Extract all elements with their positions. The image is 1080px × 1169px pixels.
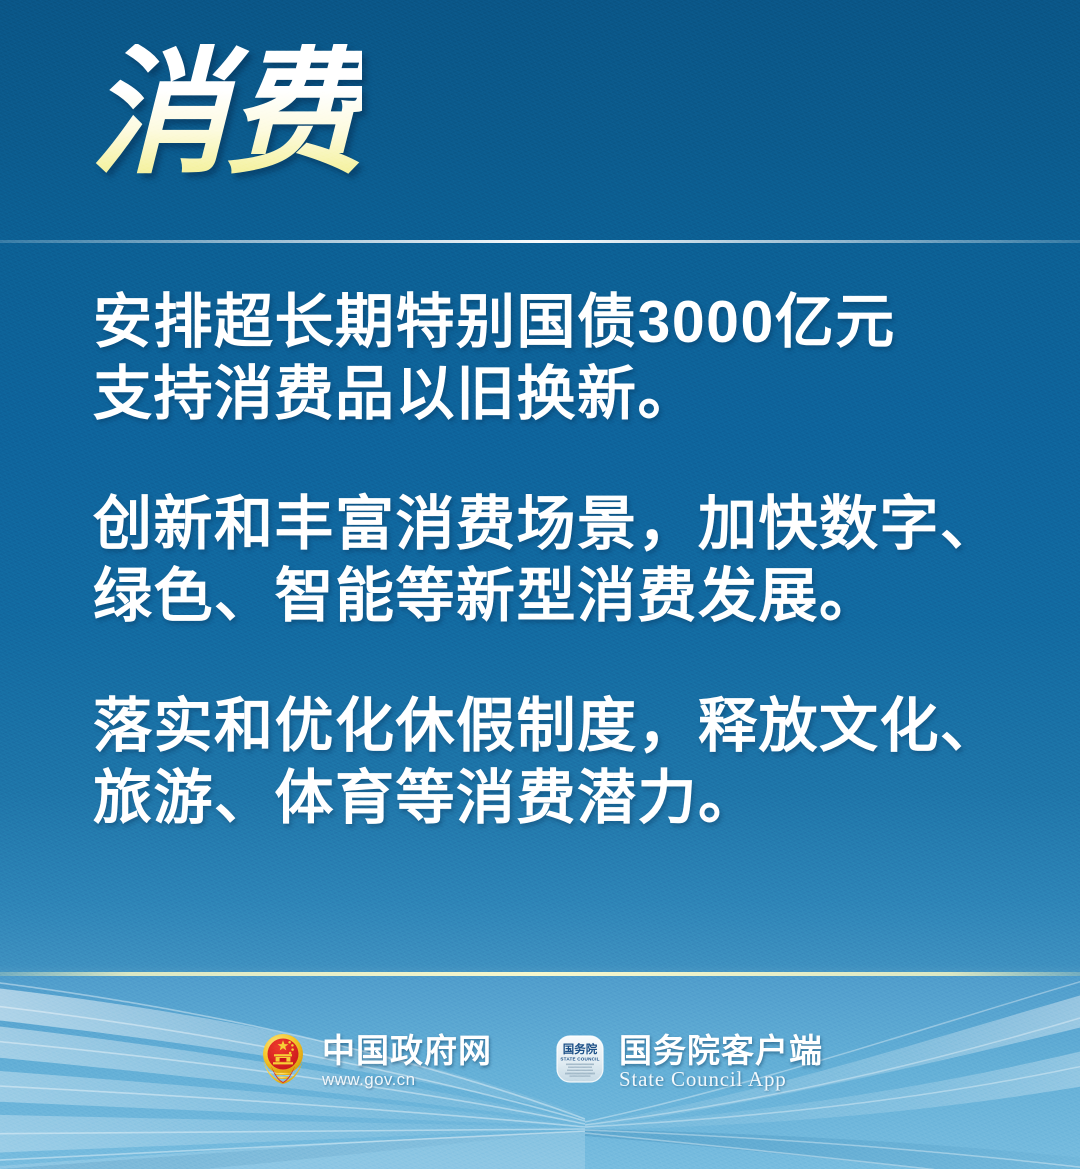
logo-label-en: State Council App [619,1069,823,1090]
logo-china-government-website-text: 中国政府网 www.gov.cn [322,1033,492,1090]
logo-state-council-app[interactable]: 国务院 STATE COUNCIL 国务院客户端 State Council A… [554,1032,823,1091]
logo-state-council-app-text: 国务院客户端 State Council App [619,1033,823,1090]
body-paragraph-3: 落实和优化休假制度，释放文化、 旅游、体育等消费潜力。 [93,690,1023,834]
svg-text:STATE COUNCIL: STATE COUNCIL [560,1057,599,1062]
poster-card: 消费 安排超长期特别国债3000亿元 支持消费品以旧换新。 创新和丰富消费场景，… [0,0,1080,1169]
footer-logo-row: 中国政府网 www.gov.cn 国务院 STATE CO [0,1032,1080,1091]
header-divider [0,240,1080,243]
china-national-emblem-icon [257,1032,309,1091]
logo-china-government-website[interactable]: 中国政府网 www.gov.cn [257,1032,492,1091]
body-paragraph-1: 安排超长期特别国债3000亿元 支持消费品以旧换新。 [93,286,1023,430]
page-title: 消费 [90,44,362,182]
logo-label-cn: 国务院客户端 [619,1033,823,1069]
svg-text:国务院: 国务院 [563,1042,598,1056]
logo-label-url: www.gov.cn [322,1069,492,1090]
body-paragraph-2: 创新和丰富消费场景，加快数字、 绿色、智能等新型消费发展。 [93,488,1023,632]
poster-header: 消费 [0,0,1080,242]
poster-body: 安排超长期特别国债3000亿元 支持消费品以旧换新。 创新和丰富消费场景，加快数… [93,286,1023,834]
state-council-app-icon: 国务院 STATE COUNCIL [554,1032,606,1091]
logo-label-cn: 中国政府网 [322,1033,492,1069]
